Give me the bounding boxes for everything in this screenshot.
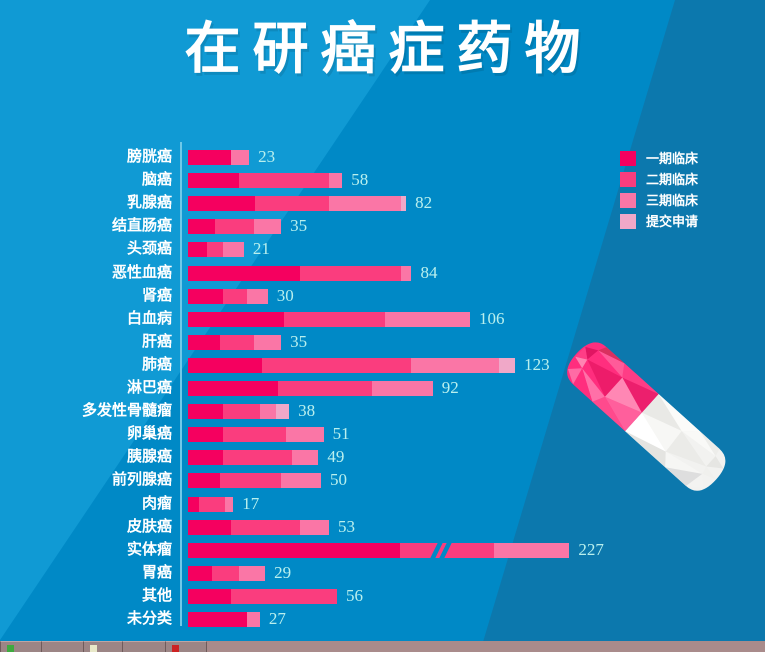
bar-segment-phase3 <box>260 404 276 419</box>
bar-segment-phase4 <box>276 404 289 419</box>
row-label: 实体瘤 <box>0 539 172 561</box>
stacked-bar <box>188 358 515 373</box>
row-value: 53 <box>338 516 355 538</box>
stacked-bar <box>188 589 337 604</box>
row-value: 56 <box>346 585 363 607</box>
row-label: 多发性骨髓瘤 <box>0 400 172 422</box>
row-label: 结直肠癌 <box>0 215 172 237</box>
row-value: 58 <box>351 169 368 191</box>
taskbar-button-icon <box>7 645 14 652</box>
row-label: 卵巢癌 <box>0 423 172 445</box>
bar-segment-phase3 <box>329 173 342 188</box>
bar-segment-phase1 <box>188 520 231 535</box>
stacked-bar <box>188 612 260 627</box>
taskbar[interactable] <box>0 641 765 652</box>
chart-row: 实体瘤227 <box>0 539 765 561</box>
bar-segment-phase1 <box>188 242 207 257</box>
bar-segment-phase1 <box>188 427 223 442</box>
stacked-bar <box>188 427 324 442</box>
bar-segment-phase3 <box>401 266 412 281</box>
bar-segment-phase3 <box>292 450 319 465</box>
bar-segment-phase2 <box>284 312 385 327</box>
bar-segment-phase1 <box>188 381 278 396</box>
row-value: 123 <box>524 354 550 376</box>
bar-segment-phase2 <box>278 381 371 396</box>
bar-segment-phase1 <box>188 543 400 558</box>
bar-segment-phase2 <box>262 358 411 373</box>
stacked-bar <box>188 543 569 558</box>
chart-row: 头颈癌21 <box>0 238 765 260</box>
row-label: 脑癌 <box>0 169 172 191</box>
taskbar-button[interactable] <box>83 641 123 652</box>
bar-segment-phase1 <box>188 289 223 304</box>
stacked-bar <box>188 173 342 188</box>
stacked-bar <box>188 473 321 488</box>
row-label: 肾癌 <box>0 285 172 307</box>
row-value: 227 <box>578 539 604 561</box>
stacked-bar <box>188 381 433 396</box>
stacked-bar <box>188 150 249 165</box>
row-value: 30 <box>277 285 294 307</box>
taskbar-button-icon <box>172 645 179 652</box>
taskbar-button[interactable] <box>122 641 166 652</box>
row-value: 21 <box>253 238 270 260</box>
row-value: 17 <box>242 493 259 515</box>
legend-item[interactable]: 二期临床 <box>620 171 750 188</box>
bar-segment-phase1 <box>188 335 220 350</box>
row-value: 38 <box>298 400 315 422</box>
legend-label: 二期临床 <box>646 172 698 187</box>
bar-segment-phase3 <box>494 543 570 558</box>
bar-segment-phase2 <box>223 450 292 465</box>
bar-segment-phase2 <box>223 427 287 442</box>
stacked-bar <box>188 520 329 535</box>
stacked-bar <box>188 450 318 465</box>
legend-item[interactable]: 三期临床 <box>620 192 750 209</box>
bar-segment-phase2 <box>231 520 300 535</box>
bar-segment-phase3 <box>281 473 321 488</box>
bar-segment-phase1 <box>188 196 255 211</box>
bar-segment-phase3 <box>223 242 244 257</box>
row-label: 膀胱癌 <box>0 146 172 168</box>
row-value: 51 <box>333 423 350 445</box>
row-value: 23 <box>258 146 275 168</box>
bar-segment-phase1 <box>188 266 300 281</box>
legend-label: 提交申请 <box>646 214 698 229</box>
bar-segment-phase3 <box>231 150 250 165</box>
chart-row: 皮肤癌53 <box>0 516 765 538</box>
bar-segment-phase2 <box>199 497 226 512</box>
row-value: 84 <box>420 262 437 284</box>
stacked-bar <box>188 219 281 234</box>
bar-segment-phase1 <box>188 450 223 465</box>
taskbar-button[interactable] <box>0 641 42 652</box>
row-value: 92 <box>442 377 459 399</box>
stacked-bar <box>188 497 233 512</box>
row-value: 49 <box>327 446 344 468</box>
bar-segment-phase3 <box>247 289 268 304</box>
bar-segment-phase1 <box>188 404 223 419</box>
row-label: 恶性血癌 <box>0 262 172 284</box>
bar-segment-phase1 <box>188 358 262 373</box>
stacked-bar <box>188 242 244 257</box>
bar-segment-phase2 <box>207 242 223 257</box>
chart-row: 胃癌29 <box>0 562 765 584</box>
legend-item[interactable]: 提交申请 <box>620 213 750 230</box>
chart-legend: 一期临床二期临床三期临床提交申请 <box>620 150 750 234</box>
taskbar-button-icon <box>90 645 97 652</box>
bar-segment-phase3 <box>300 520 329 535</box>
bar-segment-phase3 <box>286 427 323 442</box>
bar-segment-phase1 <box>188 312 284 327</box>
row-value: 35 <box>290 215 307 237</box>
bar-segment-phase1 <box>188 589 231 604</box>
stacked-bar <box>188 266 411 281</box>
row-value: 50 <box>330 469 347 491</box>
bar-segment-phase1 <box>188 497 199 512</box>
bar-segment-phase3 <box>254 219 281 234</box>
row-label: 其他 <box>0 585 172 607</box>
bar-segment-phase4 <box>499 358 515 373</box>
row-label: 肉瘤 <box>0 493 172 515</box>
bar-segment-phase3 <box>225 497 233 512</box>
row-label: 肝癌 <box>0 331 172 353</box>
row-label: 肺癌 <box>0 354 172 376</box>
legend-swatch-icon <box>620 214 636 229</box>
row-label: 胰腺癌 <box>0 446 172 468</box>
stacked-bar <box>188 289 268 304</box>
row-value: 27 <box>269 608 286 630</box>
stacked-bar <box>188 404 289 419</box>
bar-segment-phase3 <box>329 196 401 211</box>
chart-row: 恶性血癌84 <box>0 262 765 284</box>
bar-segment-phase1 <box>188 473 220 488</box>
legend-swatch-icon <box>620 172 636 187</box>
row-label: 头颈癌 <box>0 238 172 260</box>
bar-segment-phase3 <box>372 381 433 396</box>
taskbar-button[interactable] <box>41 641 84 652</box>
row-label: 乳腺癌 <box>0 192 172 214</box>
bar-segment-phase2 <box>231 589 337 604</box>
bar-segment-phase2 <box>239 173 329 188</box>
row-label: 淋巴癌 <box>0 377 172 399</box>
taskbar-button[interactable] <box>165 641 207 652</box>
bar-segment-phase1 <box>188 612 247 627</box>
bar-segment-phase2 <box>220 335 255 350</box>
bar-segment-phase2 <box>215 219 255 234</box>
row-value: 35 <box>290 331 307 353</box>
bar-segment-phase4 <box>401 196 406 211</box>
stacked-bar <box>188 196 406 211</box>
row-label: 未分类 <box>0 608 172 630</box>
bar-segment-phase1 <box>188 219 215 234</box>
bar-segment-phase3 <box>254 335 281 350</box>
bar-segment-phase2 <box>400 543 494 558</box>
stacked-bar <box>188 312 470 327</box>
bar-segment-phase3 <box>247 612 260 627</box>
row-label: 皮肤癌 <box>0 516 172 538</box>
pill-capsule-illustration <box>563 296 763 501</box>
chart-row: 未分类27 <box>0 608 765 630</box>
legend-label: 一期临床 <box>646 151 698 166</box>
bar-segment-phase1 <box>188 173 239 188</box>
row-value: 82 <box>415 192 432 214</box>
stacked-bar <box>188 335 281 350</box>
row-value: 29 <box>274 562 291 584</box>
bar-segment-phase3 <box>411 358 499 373</box>
bar-segment-phase2 <box>220 473 281 488</box>
row-value: 106 <box>479 308 505 330</box>
legend-item[interactable]: 一期临床 <box>620 150 750 167</box>
row-label: 胃癌 <box>0 562 172 584</box>
stacked-bar <box>188 566 265 581</box>
row-label: 前列腺癌 <box>0 469 172 491</box>
chart-row: 其他56 <box>0 585 765 607</box>
row-label: 白血病 <box>0 308 172 330</box>
bar-segment-phase2 <box>255 196 329 211</box>
legend-swatch-icon <box>620 151 636 166</box>
bar-segment-phase2 <box>212 566 239 581</box>
page-title: 在研癌症药物 <box>0 14 765 84</box>
bar-segment-phase2 <box>223 404 260 419</box>
bar-segment-phase3 <box>385 312 470 327</box>
legend-swatch-icon <box>620 193 636 208</box>
legend-label: 三期临床 <box>646 193 698 208</box>
bar-segment-phase1 <box>188 566 212 581</box>
bar-segment-phase1 <box>188 150 231 165</box>
bar-segment-phase3 <box>239 566 266 581</box>
bar-segment-phase2 <box>300 266 401 281</box>
bar-segment-phase2 <box>223 289 247 304</box>
